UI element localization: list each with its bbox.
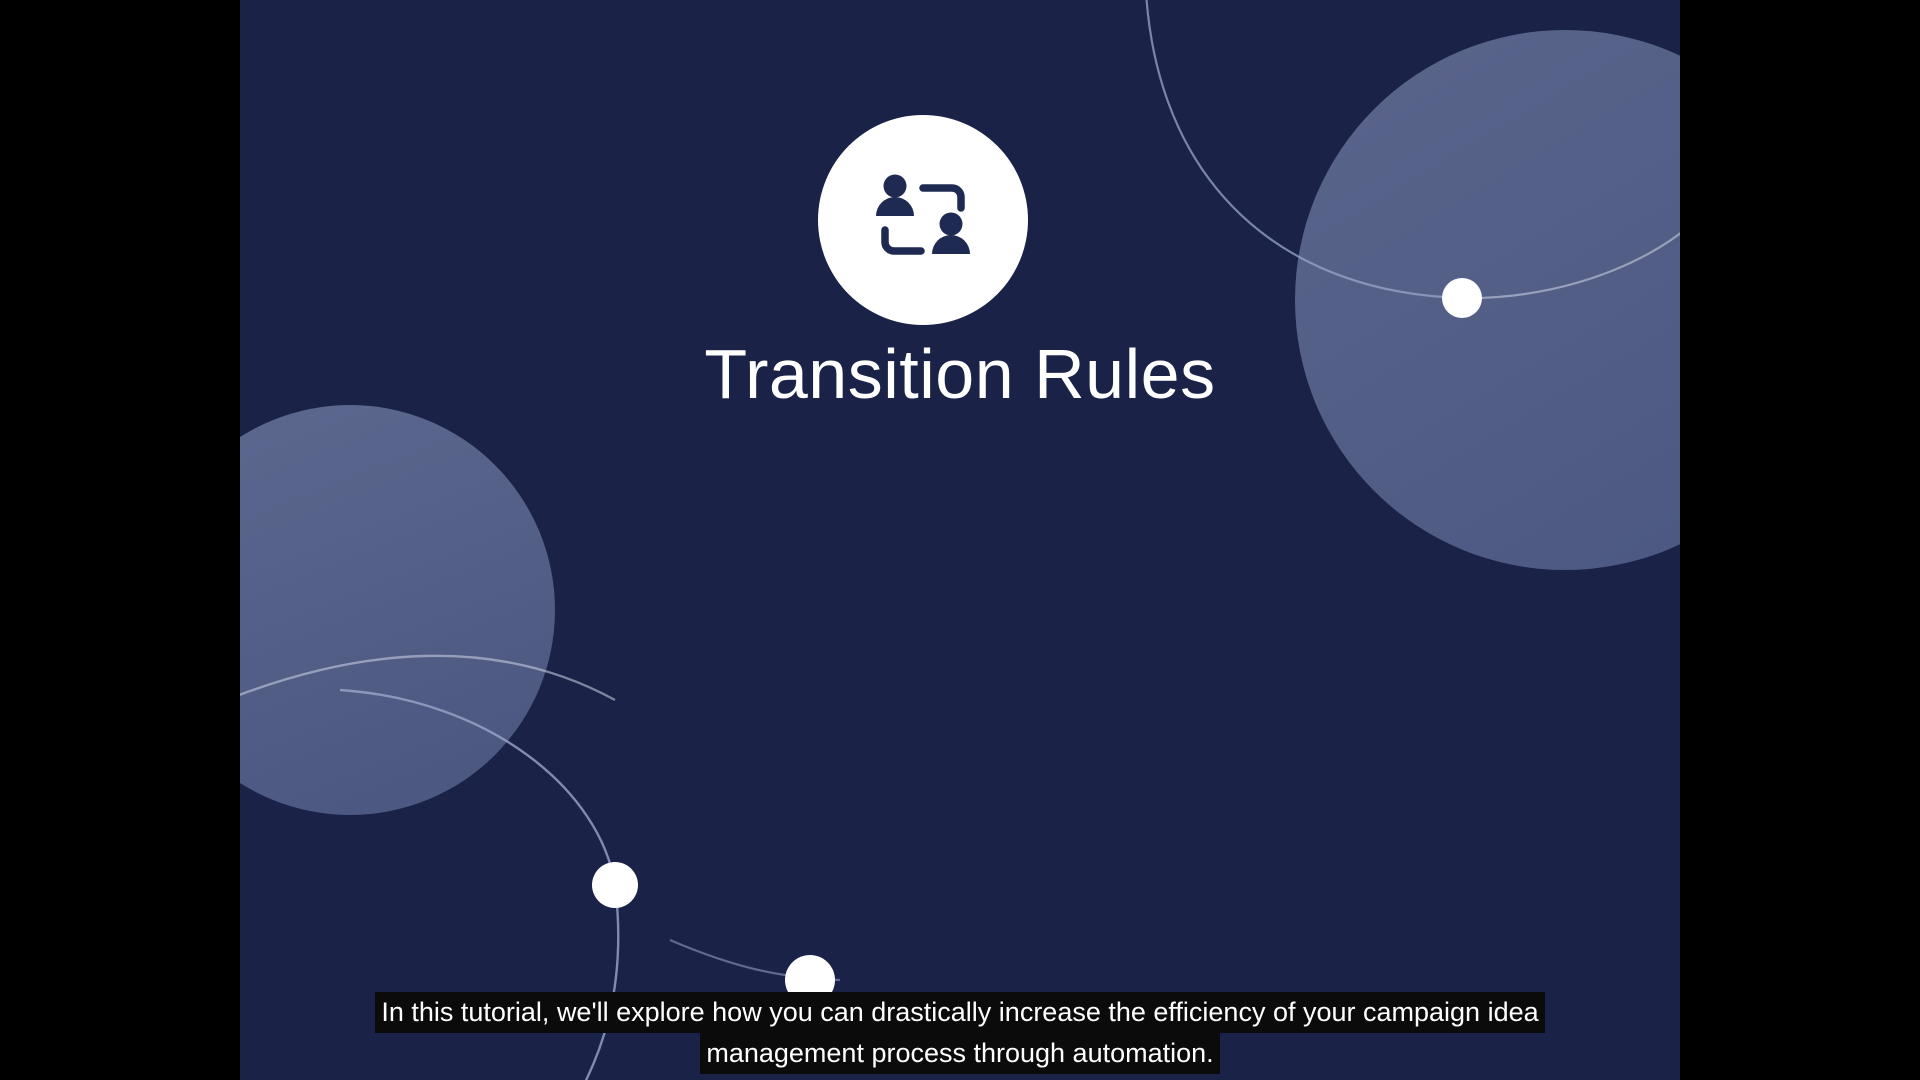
- caption-overlay: In this tutorial, we'll explore how you …: [240, 992, 1680, 1074]
- letterbox-bar-right: [1680, 0, 1920, 1080]
- caption-line-1: In this tutorial, we'll explore how you …: [375, 992, 1544, 1033]
- decor-arc-top-right: [1145, 0, 1462, 298]
- decor-dot-left: [592, 862, 638, 908]
- caption-line-2: management process through automation.: [700, 1033, 1219, 1074]
- decor-arc-left-upper: [240, 656, 615, 720]
- user-transfer-icon-badge: [818, 115, 1028, 325]
- user-transfer-icon: [871, 168, 975, 272]
- decor-dot-right: [1442, 278, 1482, 318]
- video-player-frame: Transition Rules In this tutorial, we'll…: [0, 0, 1920, 1080]
- decor-orb-left: [240, 405, 555, 815]
- slide-title: Transition Rules: [240, 338, 1680, 412]
- decor-arc-right-through-orb: [1462, 205, 1680, 298]
- caption-row: management process through automation.: [240, 1033, 1680, 1074]
- letterbox-bar-left: [0, 0, 240, 1080]
- slide-canvas: Transition Rules In this tutorial, we'll…: [240, 0, 1680, 1080]
- decor-orb-right: [1295, 30, 1680, 570]
- caption-row: In this tutorial, we'll explore how you …: [240, 992, 1680, 1033]
- decor-arc-bottom: [670, 940, 840, 980]
